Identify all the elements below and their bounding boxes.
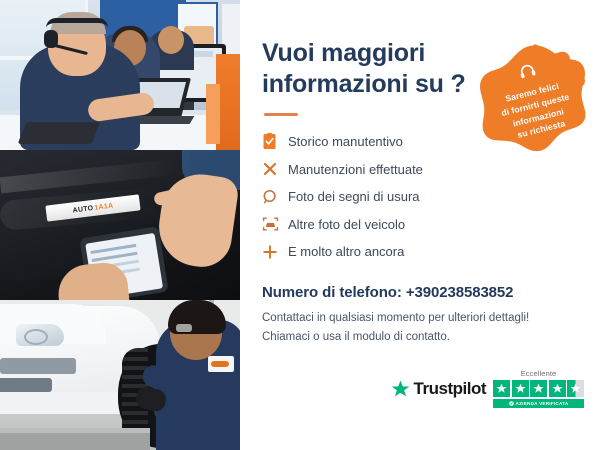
trustpilot-name: Trustpilot [414, 379, 486, 399]
headset-band-icon [46, 18, 108, 28]
trustpilot-rating-label: Eccellente [521, 369, 557, 378]
desk-tablet [18, 122, 101, 144]
contact-note: Contattaci in qualsiasi momento per ulte… [262, 309, 580, 346]
phone-line: Numero di telefono: +390238583852 [262, 284, 580, 301]
star-filled [549, 380, 566, 397]
feature-label: E molto altro ancora [288, 244, 404, 259]
title-divider [264, 113, 298, 116]
clipboard-check-icon [262, 131, 288, 153]
ad-content-panel: Vuoi maggiori informazioni su ? Storico … [240, 0, 600, 450]
star-filled [530, 380, 547, 397]
trustpilot-stars [493, 380, 584, 397]
car-lift-platform [0, 428, 150, 450]
trustpilot-logo: Trustpilot [391, 379, 486, 399]
car-grille [0, 358, 76, 374]
safety-glasses-icon [176, 324, 192, 332]
contact-note-line-1: Contattaci in qualsiasi momento per ulte… [262, 312, 529, 324]
photo-column: AUTO1A1A [0, 0, 240, 450]
plus-icon [262, 241, 288, 263]
car-inspection-sticker-photo: AUTO1A1A [0, 150, 240, 300]
phone-number[interactable]: +390238583852 [406, 284, 514, 301]
feature-label: Storico manutentivo [288, 134, 403, 149]
headline-line-1: Vuoi maggiori [262, 39, 425, 67]
headset-icon [517, 62, 538, 86]
star-filled [493, 380, 510, 397]
sticker-text-secondary: 1A1A [94, 202, 114, 211]
orange-shelf [216, 54, 240, 150]
contact-block: Numero di telefono: +390238583852 Contat… [262, 284, 580, 346]
trustpilot-widget[interactable]: Trustpilot Eccellente AZIENDA VERIFICATA [391, 369, 584, 408]
star-filled [512, 380, 529, 397]
list-item: Manutenzioni effettuate [262, 157, 580, 182]
sticker-text-primary: AUTO [72, 204, 94, 213]
background-worker-3-head [158, 26, 184, 54]
list-item: E molto altro ancora [262, 239, 580, 264]
magnifier-icon [262, 186, 288, 208]
trustpilot-rating: Eccellente AZIENDA VERIFICATA [493, 369, 584, 408]
phone-label: Numero di telefono: [262, 284, 402, 301]
verified-label: AZIENDA VERIFICATA [516, 401, 569, 406]
mechanic-wheel-photo [0, 300, 240, 450]
tools-cross-icon [262, 158, 288, 180]
list-item: Altre foto del veicolo [262, 212, 580, 237]
uniform-logo [208, 356, 234, 372]
car-headlight [16, 324, 64, 346]
car-bumper [0, 392, 134, 414]
badge-text: Saremo felici di fornirti queste informa… [497, 78, 577, 145]
list-item: Foto dei segni di usura [262, 184, 580, 209]
contact-note-line-2: Chiamaci o usa il modulo di contatto. [262, 331, 450, 343]
car-lower-grille [0, 378, 52, 392]
advertisement-card: AUTO1A1A [0, 0, 600, 450]
feature-label: Foto dei segni di usura [288, 189, 420, 204]
status-badge: AZIENDA VERIFICATA [493, 399, 584, 408]
call-center-photo [0, 0, 240, 150]
trustpilot-star-icon [391, 380, 410, 398]
feature-label: Manutenzioni effettuate [288, 162, 423, 177]
headline-line-2: informazioni su ? [262, 70, 466, 98]
feature-label: Altre foto del veicolo [288, 217, 405, 232]
car-photo-frame-icon [262, 213, 288, 235]
verified-check-icon [509, 401, 514, 406]
callout-badge: Saremo felici di fornirti queste informa… [476, 42, 592, 158]
page-title: Vuoi maggiori informazioni su ? [262, 38, 492, 99]
star-half [567, 380, 584, 397]
